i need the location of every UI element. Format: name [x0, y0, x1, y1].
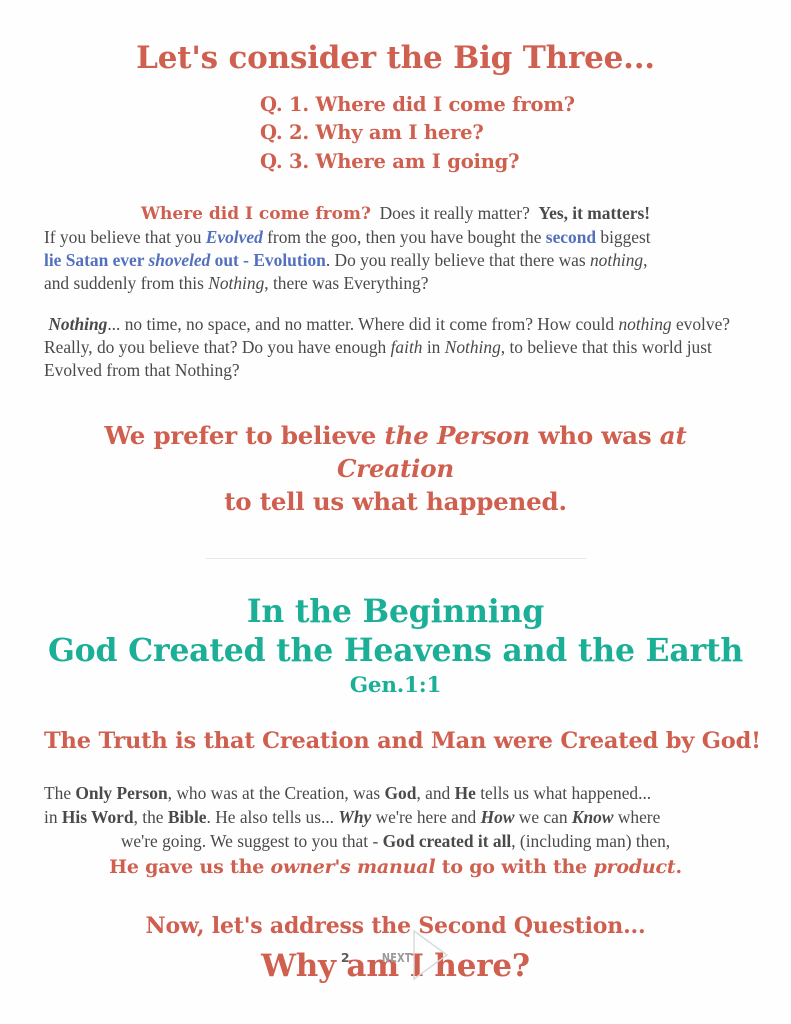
paragraph-where-did-i-come-from: Where did I come from? Does it really ma… — [44, 202, 747, 295]
paragraph-line: and suddenly from this Nothing, there wa… — [44, 272, 747, 295]
paragraph-line: If you believe that you Evolved from the… — [44, 226, 747, 249]
inline-text: , who was at the Creation, was — [168, 783, 385, 803]
big-three-question-list: Q. 1. Where did I come from? Q. 2. Why a… — [44, 91, 747, 176]
inline-text: , and — [416, 783, 454, 803]
inline-emphasis-second: second — [546, 227, 596, 247]
inline-text: , there was Everything? — [264, 273, 428, 293]
paragraph-nothing: Nothing... no time, no space, and no mat… — [44, 313, 747, 383]
inline-italic-faith: faith — [391, 337, 423, 357]
paragraph-line: lie Satan ever shoveled out - Evolution.… — [44, 249, 747, 272]
inline-text: Does it really matter? — [380, 203, 530, 223]
inline-text: biggest — [596, 227, 651, 247]
scripture-reference: Gen.1:1 — [44, 670, 747, 700]
triangle-right-icon[interactable] — [412, 929, 450, 986]
beginning-line-2: God Created the Heavens and the Earth — [44, 632, 747, 670]
inline-text: who was — [530, 421, 660, 450]
inline-emphasis-out: out - — [210, 250, 253, 270]
page-footer: 2 NEXT — [0, 929, 791, 986]
paragraph-line: Where did I come from? Does it really ma… — [44, 202, 747, 226]
inline-emphasis-know: Know — [572, 807, 614, 827]
inline-text: . Do you really believe that there was — [326, 250, 590, 270]
inline-text: , — [643, 250, 647, 270]
page-number: 2 — [341, 950, 350, 965]
inline-text: We prefer to believe — [104, 421, 384, 450]
prefer-line-1: We prefer to believe the Person who was … — [44, 420, 747, 485]
inline-text: where — [613, 807, 660, 827]
inline-text: He gave us the — [109, 856, 270, 878]
paragraph-line-owners-manual: He gave us the owner's manual to go with… — [44, 853, 747, 880]
inline-text: and suddenly from this — [44, 273, 208, 293]
inline-text: If you believe that you — [44, 227, 206, 247]
paragraph-line: we're going. We suggest to you that - Go… — [44, 829, 747, 853]
document-page: Let's consider the Big Three... Q. 1. Wh… — [0, 0, 791, 1024]
page-title: Let's consider the Big Three... — [44, 0, 747, 75]
inline-italic-nothing: Nothing — [208, 273, 264, 293]
inline-text: tells us what happened... — [476, 783, 651, 803]
inline-emphasis-evolution: Evolution — [253, 250, 325, 270]
paragraph-line: in His Word, the Bible. He also tells us… — [44, 805, 747, 829]
inline-italic-the-person: the Person — [385, 421, 530, 450]
inline-text: , (including man) then, — [511, 831, 670, 851]
inline-lead-question: Where did I come from? — [141, 204, 371, 224]
inline-text: we're going. We suggest to you that - — [121, 831, 383, 851]
inline-bold-god-created-it-all: God created it all — [383, 831, 512, 851]
question-item-3: Q. 3. Where am I going? — [260, 148, 747, 176]
question-item-2: Q. 2. Why am I here? — [260, 119, 747, 147]
inline-text: in — [44, 807, 62, 827]
inline-text: we can — [514, 807, 571, 827]
inline-emphasis-why: Why — [338, 807, 371, 827]
inline-text — [371, 203, 380, 223]
beginning-line-1: In the Beginning — [44, 593, 747, 631]
inline-emphasis-how: How — [481, 807, 515, 827]
paragraph-line: The Only Person, who was at the Creation… — [44, 781, 747, 805]
inline-text: . — [675, 856, 681, 878]
inline-emphasis-shoveled: shoveled — [149, 250, 211, 270]
inline-text: . He also tells us... — [207, 807, 339, 827]
inline-bold-he: He — [455, 783, 476, 803]
inline-text: we're here and — [371, 807, 480, 827]
inline-bold: Yes, it matters! — [539, 203, 651, 223]
inline-italic-nothing: nothing — [618, 314, 671, 334]
inline-italic-nothing: Nothing — [445, 337, 501, 357]
prefer-line-2: to tell us what happened. — [44, 486, 747, 519]
inline-text: from the goo, then you have bought the — [263, 227, 546, 247]
inline-italic-owners-manual: owner's manual — [271, 856, 436, 878]
inline-text: The — [44, 783, 75, 803]
inline-text — [530, 203, 539, 223]
question-item-1: Q. 1. Where did I come from? — [260, 91, 747, 119]
in-the-beginning-heading: In the Beginning God Created the Heavens… — [44, 559, 747, 700]
inline-bold-his-word: His Word — [62, 807, 134, 827]
truth-statement: The Truth is that Creation and Man were … — [44, 700, 747, 755]
next-button-label[interactable]: NEXT — [381, 950, 411, 965]
inline-italic-nothing: nothing — [590, 250, 643, 270]
inline-emphasis-lie: lie Satan ever — [44, 250, 149, 270]
prefer-to-believe-statement: We prefer to believe the Person who was … — [44, 382, 747, 518]
inline-text: to go with the — [435, 856, 593, 878]
inline-bold-bible: Bible — [168, 807, 207, 827]
inline-emphasis-evolved: Evolved — [206, 227, 263, 247]
paragraph-only-person: The Only Person, who was at the Creation… — [44, 755, 747, 881]
inline-italic-product: product — [593, 856, 675, 878]
inline-text: , the — [134, 807, 168, 827]
inline-emphasis-nothing: Nothing — [48, 314, 107, 334]
inline-text: ... no time, no space, and no matter. Wh… — [107, 314, 618, 334]
inline-bold-god: God — [385, 783, 417, 803]
inline-text: in — [422, 337, 444, 357]
inline-bold-only-person: Only Person — [75, 783, 167, 803]
